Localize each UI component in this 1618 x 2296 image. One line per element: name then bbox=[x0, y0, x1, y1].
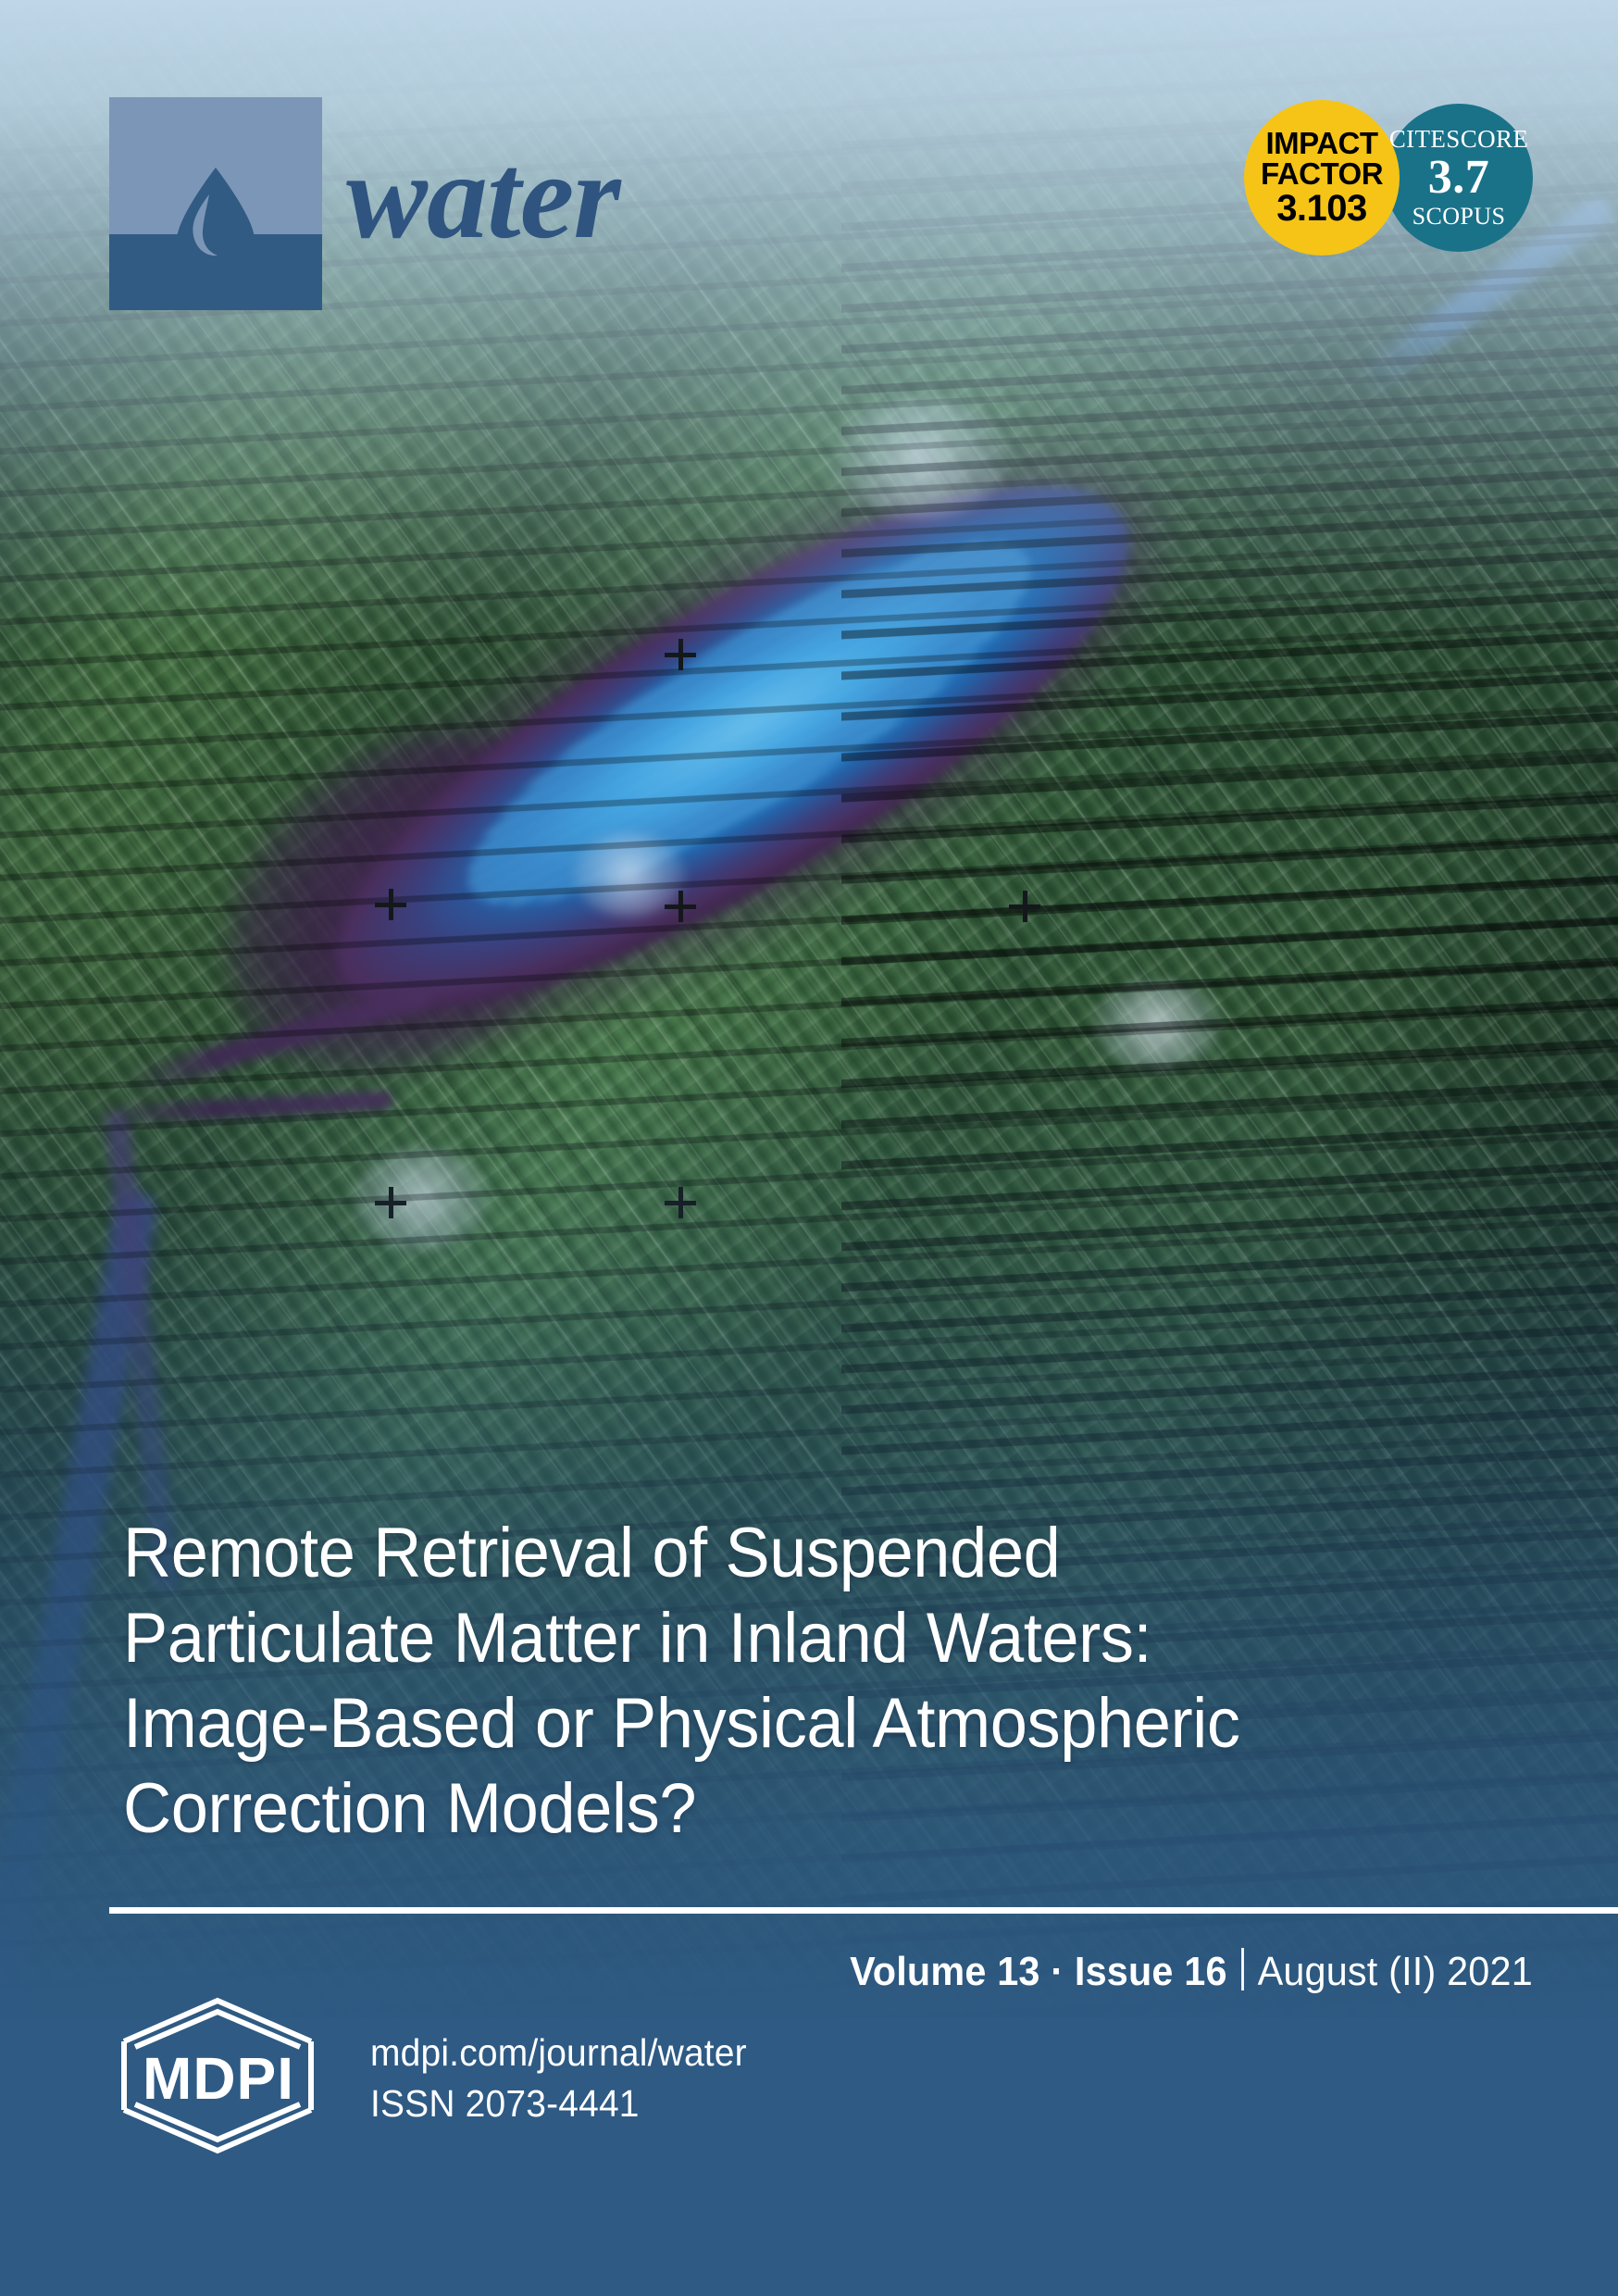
title-line: Remote Retrieval of Suspended bbox=[123, 1511, 1434, 1596]
cover-article-title: Remote Retrieval of Suspended Particulat… bbox=[123, 1511, 1434, 1852]
cover-footer: MDPI mdpi.com/journal/water ISSN 2073-44… bbox=[115, 1997, 766, 2159]
volume-issue-label: Volume 13 · Issue 16 bbox=[850, 1952, 1227, 1992]
impact-factor-label-line2: FACTOR bbox=[1261, 158, 1383, 190]
citescore-source: SCOPUS bbox=[1413, 204, 1506, 231]
impact-factor-label-line1: IMPACT bbox=[1265, 128, 1377, 159]
impact-factor-value: 3.103 bbox=[1276, 190, 1367, 229]
masthead: water bbox=[109, 97, 620, 310]
water-drop-icon bbox=[171, 164, 260, 280]
svg-text:MDPI: MDPI bbox=[143, 2045, 294, 2112]
citescore-value: 3.7 bbox=[1428, 153, 1490, 204]
issue-info: Volume 13 · Issue 16 August (II) 2021 bbox=[850, 1942, 1533, 1992]
footer-text: mdpi.com/journal/water ISSN 2073-4441 bbox=[370, 2028, 747, 2128]
issue-separator bbox=[1241, 1948, 1244, 1990]
impact-factor-badge[interactable]: IMPACT FACTOR 3.103 bbox=[1244, 100, 1400, 256]
issue-date-label: August (II) 2021 bbox=[1258, 1952, 1533, 1992]
journal-logo[interactable] bbox=[109, 97, 322, 310]
journal-url[interactable]: mdpi.com/journal/water bbox=[370, 2028, 747, 2078]
metric-badges: CITESCORE 3.7 SCOPUS IMPACT FACTOR 3.103 bbox=[1244, 100, 1533, 256]
title-line: Image-Based or Physical Atmospheric bbox=[123, 1681, 1434, 1766]
title-line: Correction Models? bbox=[123, 1766, 1434, 1852]
mdpi-hexagon-logo[interactable]: MDPI bbox=[115, 1997, 328, 2159]
citescore-badge[interactable]: CITESCORE 3.7 SCOPUS bbox=[1385, 104, 1533, 252]
journal-wordmark: water bbox=[346, 135, 620, 272]
title-line: Particulate Matter in Inland Waters: bbox=[123, 1596, 1434, 1681]
citescore-label: CITESCORE bbox=[1389, 126, 1529, 154]
title-divider-rule bbox=[109, 1907, 1618, 1914]
journal-cover: water CITESCORE 3.7 SCOPUS IMPACT FACTOR… bbox=[0, 0, 1618, 2296]
journal-issn: ISSN 2073-4441 bbox=[370, 2078, 747, 2129]
